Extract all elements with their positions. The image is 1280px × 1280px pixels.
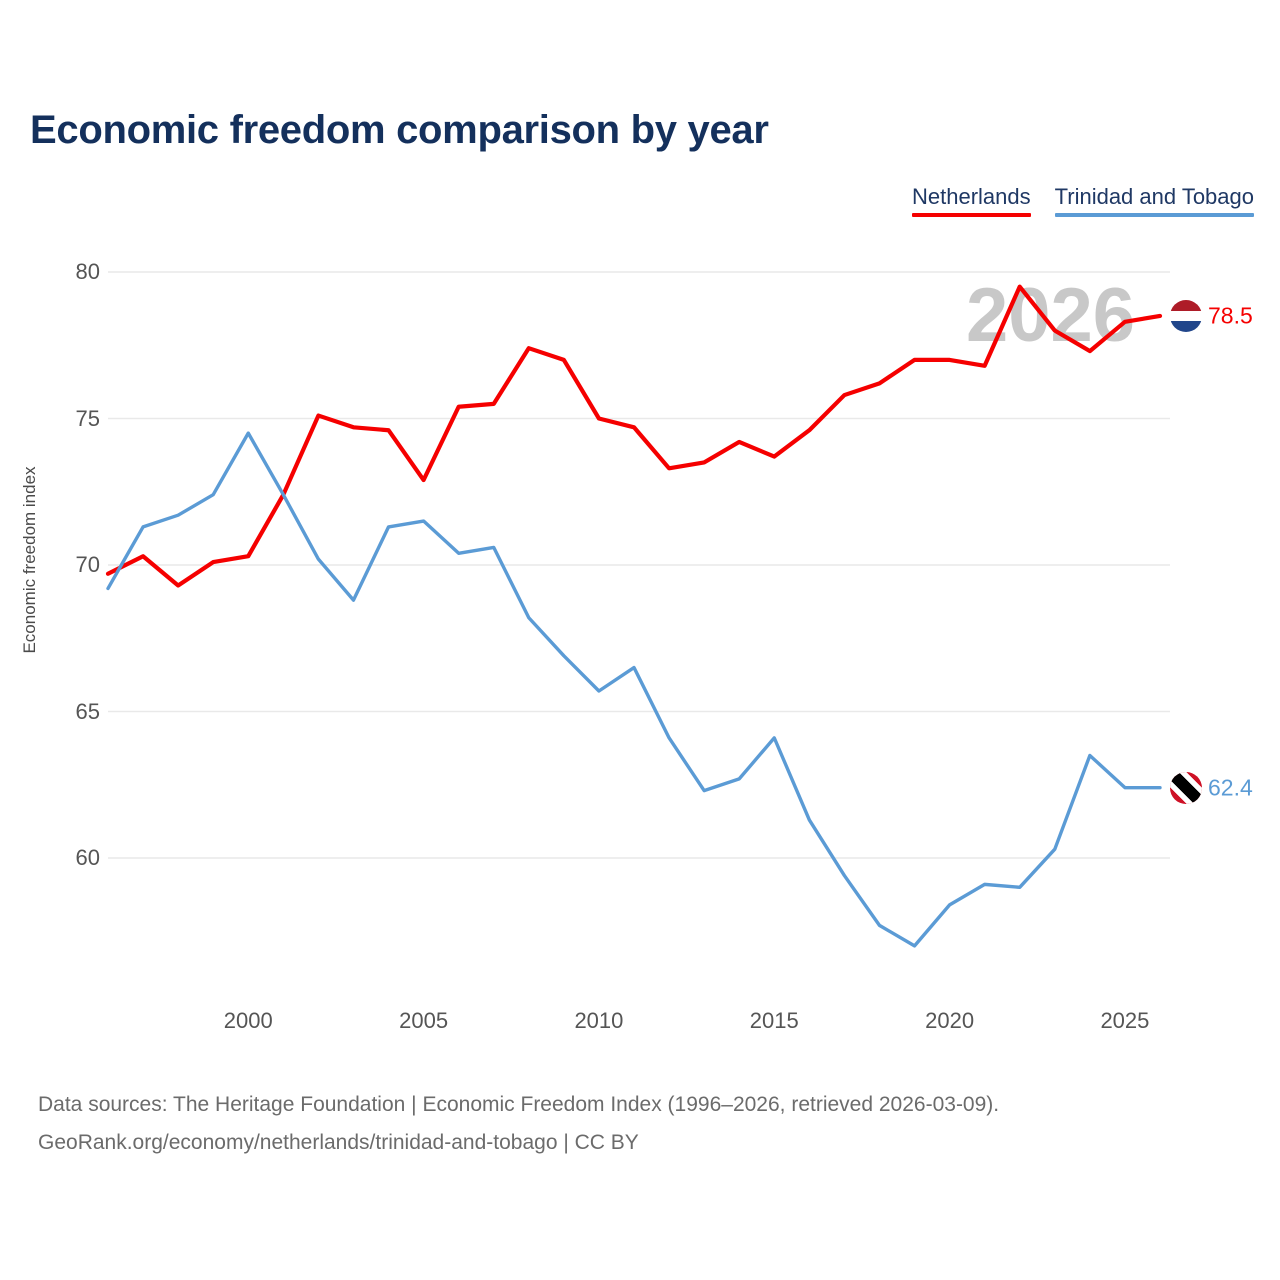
x-axis-tick-label: 2025 [1100, 1008, 1149, 1034]
y-axis-tick-label: 60 [40, 845, 100, 871]
footer-line-1: Data sources: The Heritage Foundation | … [38, 1086, 999, 1124]
netherlands-flag-icon [1170, 300, 1202, 332]
x-axis-tick-label: 2020 [925, 1008, 974, 1034]
x-axis-tick-label: 2005 [399, 1008, 448, 1034]
legend-item-trinidad-and-tobago[interactable]: Trinidad and Tobago [1055, 184, 1254, 217]
y-axis-tick-label: 70 [40, 552, 100, 578]
year-watermark: 2026 [966, 272, 1135, 359]
end-value-trinidad-and-tobago: 62.4 [1208, 774, 1253, 801]
legend-item-netherlands[interactable]: Netherlands [912, 184, 1031, 217]
end-value-netherlands: 78.5 [1208, 302, 1253, 329]
y-axis-tick-label: 65 [40, 699, 100, 725]
x-axis-tick-label: 2000 [224, 1008, 273, 1034]
chart-page: Economic freedom comparison by year Neth… [0, 0, 1280, 1280]
legend-color-rule [912, 213, 1031, 217]
legend-label: Netherlands [912, 184, 1031, 210]
page-title: Economic freedom comparison by year [30, 108, 769, 153]
legend-label: Trinidad and Tobago [1055, 184, 1254, 210]
footer-line-2: GeoRank.org/economy/netherlands/trinidad… [38, 1124, 999, 1162]
y-axis-tick-label: 80 [40, 259, 100, 285]
footer-note: Data sources: The Heritage Foundation | … [38, 1086, 999, 1162]
x-axis-tick-label: 2010 [574, 1008, 623, 1034]
legend: Netherlands Trinidad and Tobago [912, 184, 1254, 217]
y-axis-tick-label: 75 [40, 406, 100, 432]
series-line [108, 433, 1160, 946]
legend-color-rule [1055, 213, 1254, 217]
x-axis-tick-label: 2015 [750, 1008, 799, 1034]
trinidad-and-tobago-flag-icon [1170, 772, 1202, 804]
